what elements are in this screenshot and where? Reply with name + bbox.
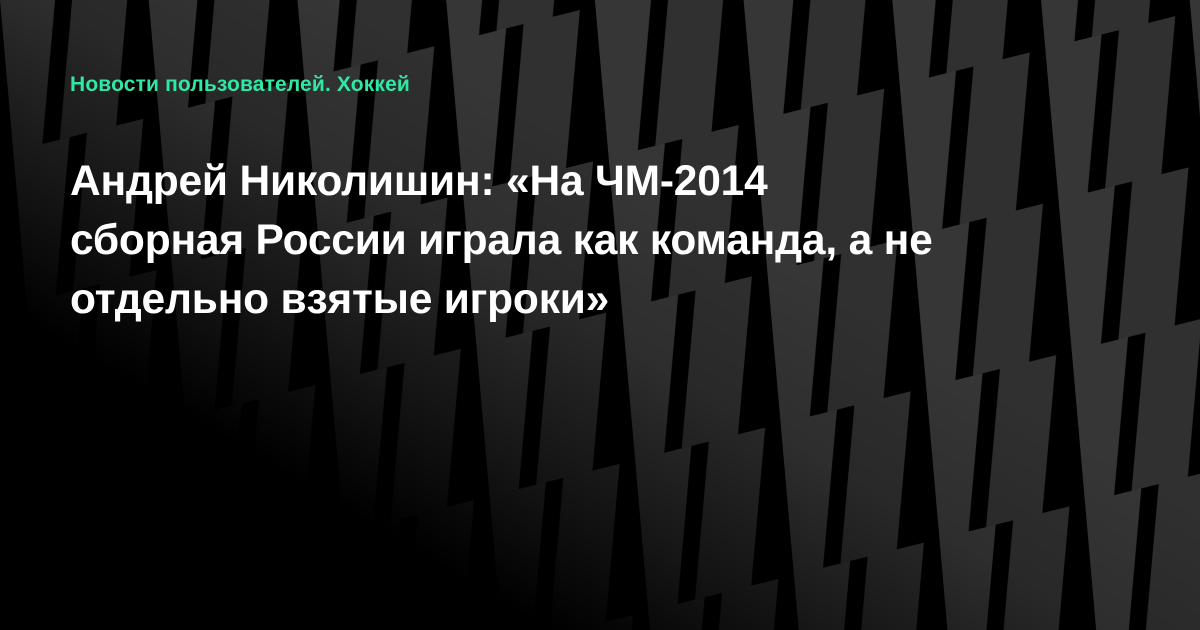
headline-line-1: Андрей Николишин: «На ЧМ-2014 [70, 152, 1130, 211]
headline-line-3: отдельно взятые игроки» [70, 270, 1130, 329]
card-content: Новости пользователей. Хоккей Андрей Ник… [0, 0, 1200, 630]
share-card: Новости пользователей. Хоккей Андрей Ник… [0, 0, 1200, 630]
headline: Андрей Николишин: «На ЧМ-2014 сборная Ро… [70, 98, 1130, 329]
category-kicker[interactable]: Новости пользователей. Хоккей [70, 72, 1130, 98]
headline-line-2: сборная России играла как команда, а не [70, 211, 1130, 270]
